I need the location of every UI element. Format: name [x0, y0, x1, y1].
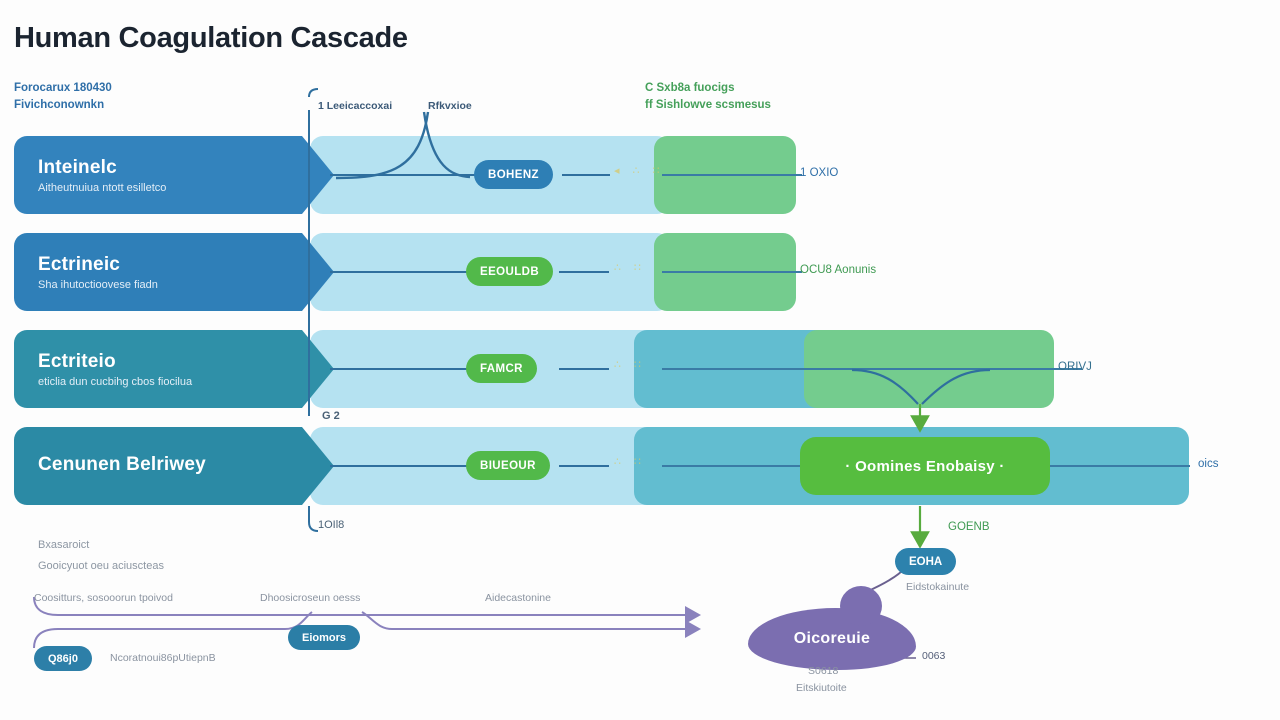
organelle-top-pill-label: EOHA: [909, 556, 942, 568]
row3-wire-mid: [559, 368, 609, 370]
common-pathway-node[interactable]: · Oomines Enobaisy ·: [800, 437, 1050, 495]
row1-ticks: ◂ ∴ ∷: [614, 164, 665, 177]
row3-wire-right: [662, 368, 1082, 370]
organelle-label: Oicoreuie: [794, 630, 871, 648]
pathway-row-extrinsic-b[interactable]: Ectriteio eticlia dun cucbihg cbos fioci…: [14, 330, 1074, 408]
legend-arrow-bottom-left: [34, 612, 312, 648]
legend-bottom-label: Ncoratnoui86pUtiepnB: [110, 652, 216, 664]
row3-ticks: ∴ ∷: [614, 358, 646, 371]
page-title: Human Coagulation Cascade: [14, 22, 408, 55]
row3-node-label: FAMCR: [480, 363, 523, 375]
organelle-knob: [840, 586, 882, 626]
row4-wire-left: [330, 465, 470, 467]
organelle-bottom-note-1: S0618: [808, 665, 838, 677]
row2-node-pill[interactable]: EEOULDB: [466, 257, 553, 286]
row1-subtitle: Aitheutnuiua ntott esilletco: [38, 182, 334, 194]
header-right-line1: C Sxb8a fuocigs: [645, 82, 734, 94]
row2-subtitle: Sha ihutoctioovese fiadn: [38, 279, 334, 291]
row3-node-pill[interactable]: FAMCR: [466, 354, 537, 383]
header-mid-line2: Rfkvxioe: [428, 100, 472, 112]
legend-heading-2: Gooicyuot oeu aciuscteas: [38, 557, 164, 575]
row4-wire-right: [1050, 465, 1190, 467]
pathway-row-common[interactable]: Cenunen Belriwey BIUEOUR ∴ ∷ · Oomines E…: [14, 427, 1184, 505]
row3-end-label: ORIVJ: [1058, 361, 1092, 373]
row4-wire-mid: [559, 465, 609, 467]
row1-wire-left: [330, 174, 480, 176]
row3-wire-left: [330, 368, 470, 370]
header-right: C Sxb8a fuocigs ff Sishlowve scsmesus: [645, 80, 771, 114]
row4-node-label: BIUEOUR: [480, 460, 536, 472]
row4-title: Cenunen Belriwey: [38, 454, 334, 476]
header-left-line2: Fivichconownkn: [14, 97, 112, 114]
row2-node-label: EEOULDB: [480, 266, 539, 278]
header-mid-line1: 1 Leeicaccoxai: [318, 100, 392, 112]
row1-wire-mid: [562, 174, 610, 176]
legend-label-1: Coositturs, sosooorun tpoivod: [34, 592, 173, 604]
legend-mid-pill[interactable]: Eiomors: [288, 625, 360, 650]
row1-end-label: 1 OXIO: [800, 167, 838, 179]
legend-label-3: Aidecastonine: [485, 592, 551, 604]
legend-arrow-bottom-right: [362, 612, 693, 629]
pathway-row-extrinsic-a[interactable]: Ectrineic Sha ihutoctioovese fiadn EEOUL…: [14, 233, 814, 311]
row2-wire-left: [330, 271, 470, 273]
row1-title: Inteinelc: [38, 157, 334, 179]
left-spine-bottom-elbow: [309, 506, 318, 531]
bottom-left-annotation: 1OIl8: [318, 519, 344, 531]
row3-title: Ectriteio: [38, 351, 334, 373]
row2-end-label: OCU8 Aonunis: [800, 264, 876, 276]
row2-title: Ectrineic: [38, 254, 334, 276]
row1-label-chevron[interactable]: Inteinelc Aitheutnuiua ntott esilletco: [14, 136, 334, 214]
organelle-bottom-note-2: Eitskiutoite: [796, 682, 847, 694]
row1-node-pill[interactable]: BOHENZ: [474, 160, 553, 189]
row4-end-label: oics: [1198, 458, 1218, 470]
left-spine-top-elbow: [309, 89, 318, 97]
common-pathway-label: · Oomines Enobaisy ·: [845, 458, 1004, 475]
row4-wire-to-node: [662, 465, 802, 467]
diagram-canvas: Human Coagulation Cascade Forocarux 1804…: [0, 0, 1280, 720]
row4-label-chevron[interactable]: Cenunen Belriwey: [14, 427, 334, 505]
legend-label-2: Dhoosicroseun oesss: [260, 592, 360, 604]
legend-bottom-pill[interactable]: Q86j0: [34, 646, 92, 671]
row4-node-pill[interactable]: BIUEOUR: [466, 451, 550, 480]
row4-ticks: ∴ ∷: [614, 455, 646, 468]
row3-subtitle: eticlia dun cucbihg cbos fiociluа: [38, 376, 334, 388]
header-right-line2: ff Sishlowve scsmesus: [645, 97, 771, 114]
organelle-bottom-line-label: 0063: [922, 650, 945, 662]
row1-wire-right: [662, 174, 802, 176]
organelle-top-pill[interactable]: EOHA: [895, 548, 956, 575]
legend-heading-1: Bxasaroict: [38, 536, 89, 554]
header-left-line1: Forocarux 180430: [14, 82, 112, 94]
row2-wire-mid: [559, 271, 609, 273]
row2-ticks: ∴ ∷: [614, 261, 646, 274]
row2-wire-right: [662, 271, 802, 273]
row3-label-chevron[interactable]: Ectriteio eticlia dun cucbihg cbos fioci…: [14, 330, 334, 408]
common-down-label: GOENB: [948, 521, 990, 533]
organelle-shape[interactable]: Oicoreuie: [748, 608, 916, 670]
organelle-top-note: Eidstokainute: [906, 581, 969, 593]
header-left: Forocarux 180430 Fivichconownkn: [14, 80, 112, 114]
legend-mid-pill-label: Eiomors: [302, 632, 346, 644]
gap-annotation: G 2: [322, 410, 340, 422]
legend-bottom-pill-label: Q86j0: [48, 653, 78, 665]
pathway-row-intrinsic[interactable]: Inteinelc Aitheutnuiua ntott esilletco B…: [14, 136, 814, 214]
row1-node-label: BOHENZ: [488, 169, 539, 181]
row2-label-chevron[interactable]: Ectrineic Sha ihutoctioovese fiadn: [14, 233, 334, 311]
